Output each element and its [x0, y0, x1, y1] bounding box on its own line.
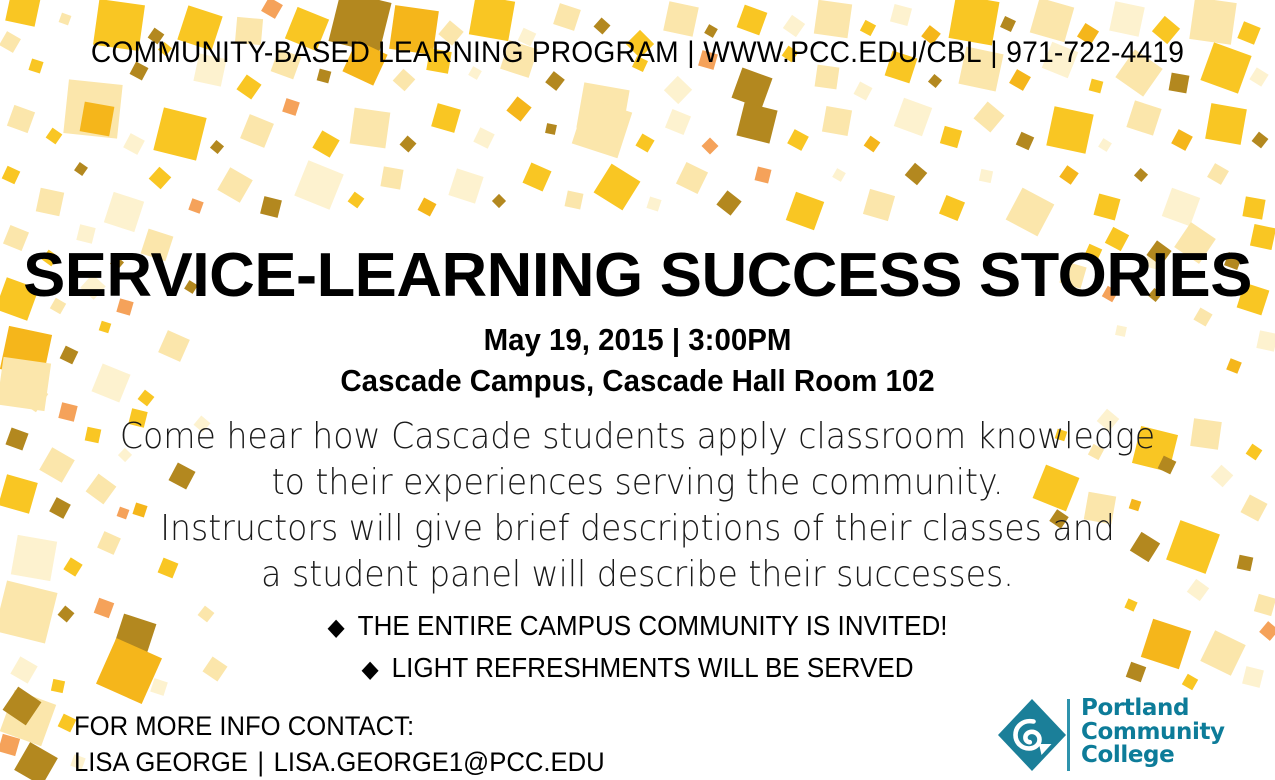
header-phone: 971-722-4419: [1006, 36, 1184, 69]
bullet-label: THE ENTIRE CAMPUS COMMUNITY IS INVITED!: [358, 610, 948, 641]
logo-divider: [1067, 699, 1070, 771]
diamond-bullet-icon: ◆: [361, 650, 391, 690]
contact-email-link[interactable]: LISA.GEORGE1@PCC.EDU: [274, 747, 605, 777]
pcc-spiral-diamond-icon: [995, 697, 1069, 778]
list-item: ◆THE ENTIRE CAMPUS COMMUNITY IS INVITED!: [45, 606, 1231, 648]
header-website-link[interactable]: WWW.PCC.EDU/CBL: [703, 36, 982, 69]
logo-wordmark: Portland Community College: [1081, 697, 1225, 768]
contact-heading: FOR MORE INFO CONTACT:: [74, 708, 605, 744]
header-program-label: COMMUNITY-BASED LEARNING PROGRAM: [91, 36, 679, 69]
pcc-logo: Portland Community College: [995, 697, 1225, 773]
description-line: a student panel will describe their succ…: [51, 552, 1224, 598]
poster-content: COMMUNITY-BASED LEARNING PROGRAM|WWW.PCC…: [0, 0, 1275, 780]
event-date-time: May 19, 2015 | 3:00PM: [32, 322, 1243, 358]
list-item: ◆LIGHT REFRESHMENTS WILL BE SERVED: [45, 648, 1231, 690]
bullet-list: ◆THE ENTIRE CAMPUS COMMUNITY IS INVITED!…: [0, 606, 1275, 690]
event-location: Cascade Campus, Cascade Hall Room 102: [32, 363, 1243, 399]
logo-line-community: Community: [1081, 721, 1225, 745]
header-contact-line: COMMUNITY-BASED LEARNING PROGRAM|WWW.PCC…: [38, 36, 1237, 70]
diamond-bullet-icon: ◆: [327, 608, 357, 648]
header-separator-1: |: [679, 36, 703, 70]
description-line: Instructors will give brief descriptions…: [51, 506, 1224, 552]
logo-line-portland: Portland: [1081, 697, 1225, 721]
contact-separator: |: [248, 744, 274, 780]
logo-line-college: College: [1081, 744, 1225, 768]
contact-details: LISA GEORGE|LISA.GEORGE1@PCC.EDU: [74, 744, 605, 780]
description-block: Come hear how Cascade students apply cla…: [0, 414, 1275, 598]
poster-canvas: COMMUNITY-BASED LEARNING PROGRAM|WWW.PCC…: [0, 0, 1275, 780]
contact-block: FOR MORE INFO CONTACT: LISA GEORGE|LISA.…: [74, 708, 605, 780]
poster-title: SERVICE-LEARNING SUCCESS STORIES: [0, 240, 1275, 311]
contact-name: LISA GEORGE: [74, 747, 248, 777]
description-line: to their experiences serving the communi…: [51, 460, 1224, 506]
bullet-label: LIGHT REFRESHMENTS WILL BE SERVED: [392, 652, 914, 683]
header-separator-2: |: [982, 36, 1006, 70]
description-line: Come hear how Cascade students apply cla…: [51, 414, 1224, 460]
